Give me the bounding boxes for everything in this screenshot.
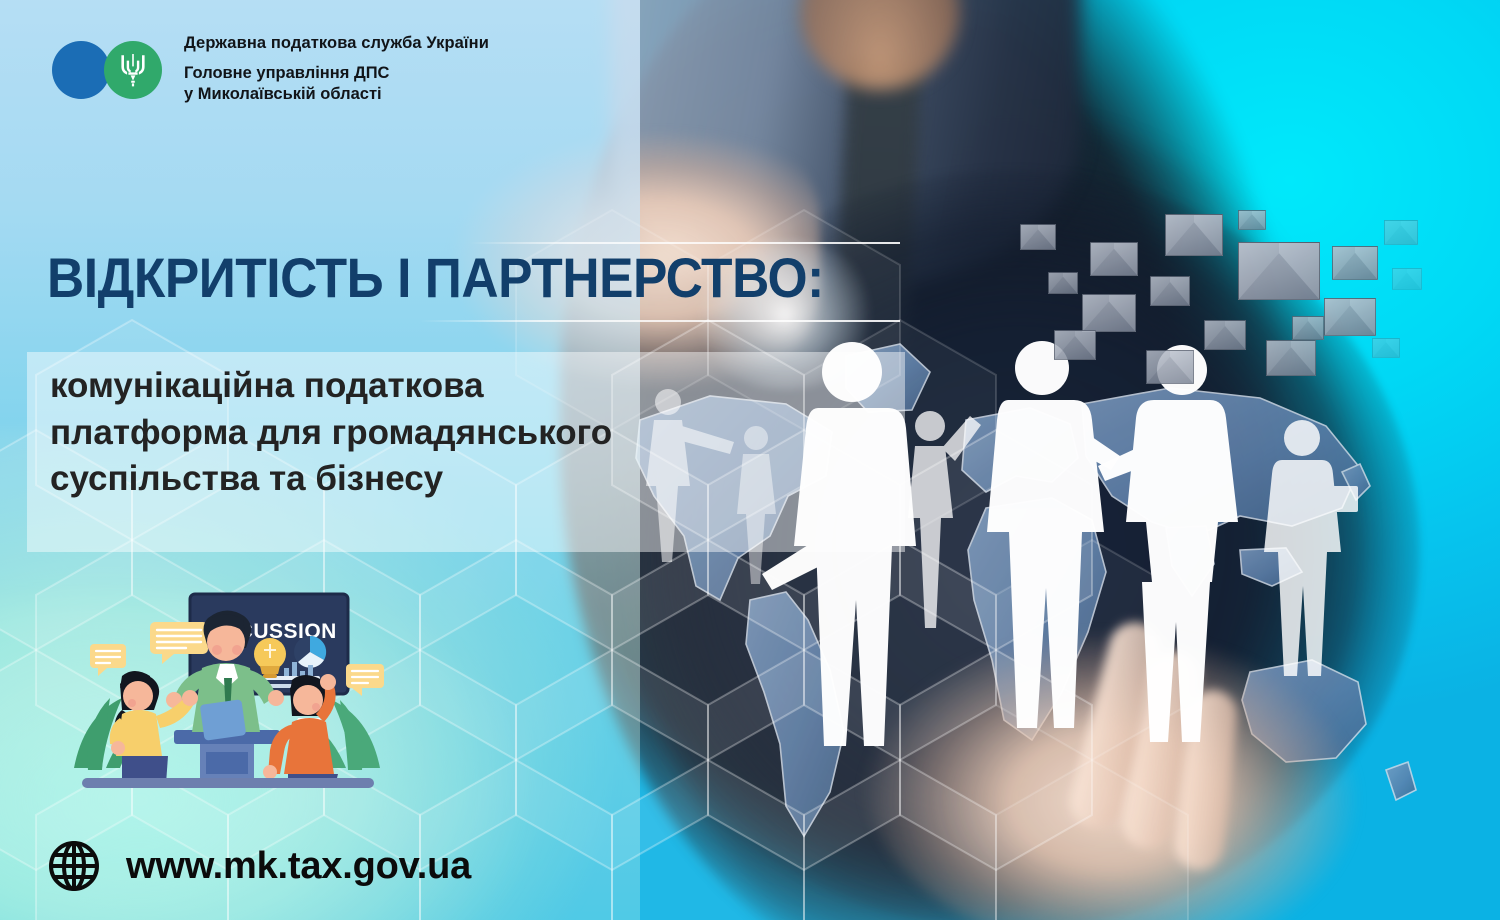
headline-rule-bottom	[420, 320, 900, 322]
headline-rule-top	[470, 242, 900, 244]
logo-header: Державна податкова служба України Головн…	[52, 34, 489, 106]
website-row[interactable]: www.mk.tax.gov.ua	[48, 840, 471, 892]
envelope-icon	[1090, 242, 1138, 276]
envelope-icon	[1146, 350, 1194, 384]
globe-icon	[48, 840, 100, 892]
envelope-icon	[1332, 246, 1378, 280]
speech-bubble-small-right	[346, 664, 384, 696]
banner-root: Державна податкова служба України Головн…	[0, 0, 1500, 920]
floor-bar	[82, 778, 374, 788]
envelope-icon	[1165, 214, 1223, 256]
pie-chart-icon	[294, 636, 326, 668]
envelope-icon	[1238, 242, 1320, 300]
page-subtitle: комунікаційна податкова платформа для гр…	[50, 363, 910, 503]
page-title: ВІДКРИТІСТЬ І ПАРТНЕРСТВО:	[47, 245, 824, 311]
blue-circle-icon	[52, 41, 110, 99]
envelope-icon	[1266, 340, 1316, 376]
email-envelopes-group	[980, 210, 1500, 540]
org-secondary-label: Головне управління ДПС у Миколаївській о…	[184, 63, 489, 106]
envelope-icon	[1048, 272, 1078, 294]
envelope-icon	[1204, 320, 1246, 350]
org-primary-label: Державна податкова служба України	[184, 34, 489, 54]
envelope-icon	[1372, 338, 1400, 358]
envelope-icon	[1324, 298, 1376, 336]
envelope-icon	[1392, 268, 1422, 290]
envelope-icon	[1384, 220, 1418, 245]
trident-icon	[118, 52, 148, 88]
org-secondary-line1: Головне управління ДПС	[184, 64, 389, 82]
envelope-icon	[1150, 276, 1190, 306]
podium-panel	[206, 752, 248, 774]
speech-bubble-small-left	[90, 644, 126, 676]
green-circle-trident-icon	[104, 41, 162, 99]
headline-block: ВІДКРИТІСТЬ І ПАРТНЕРСТВО:	[0, 237, 920, 329]
discussion-illustration: DISCUSSION	[62, 572, 392, 804]
envelope-icon	[1020, 224, 1056, 250]
envelope-icon	[1054, 330, 1096, 360]
envelope-icon	[1238, 210, 1266, 230]
website-url[interactable]: www.mk.tax.gov.ua	[126, 845, 471, 888]
envelope-icon	[1082, 294, 1136, 332]
org-secondary-line2: у Миколаївській області	[184, 85, 382, 103]
logo-marks	[52, 41, 162, 99]
envelope-icon	[1292, 316, 1324, 340]
organisation-text: Державна податкова служба України Головн…	[184, 34, 489, 106]
